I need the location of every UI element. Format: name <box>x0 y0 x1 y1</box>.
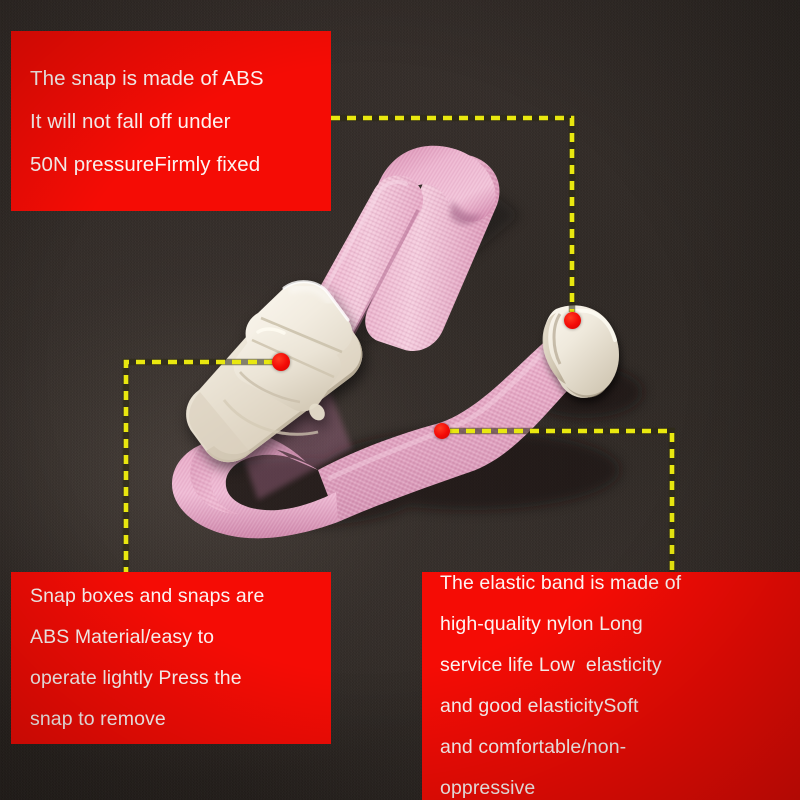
vignette-overlay <box>0 0 800 800</box>
infographic-canvas: The snap is made of ABS It will not fall… <box>0 0 800 800</box>
